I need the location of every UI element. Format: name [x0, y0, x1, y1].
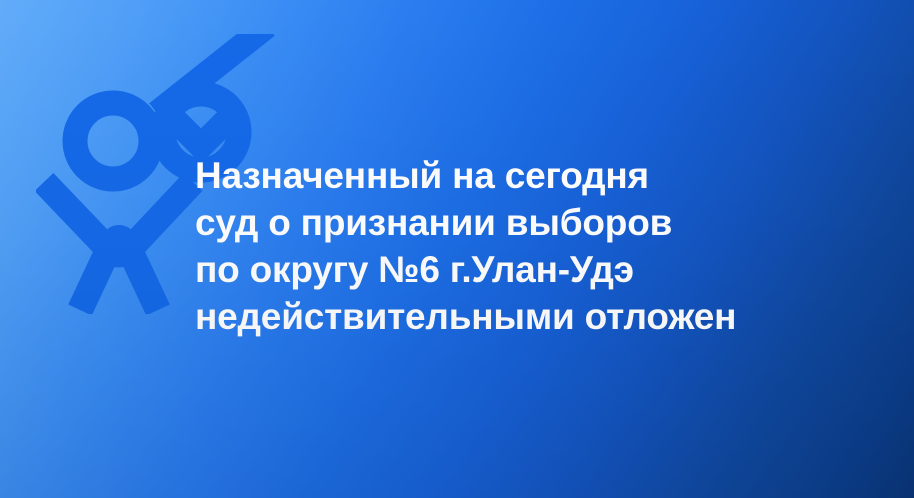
- headline: Назначенный на сегодня суд о признании в…: [195, 152, 895, 340]
- headline-line-3: по округу №6 г.Улан-Удэ: [195, 246, 895, 293]
- check-chevron-icon: [169, 114, 233, 146]
- headline-line-4: недействительными отложен: [195, 293, 895, 340]
- news-card: Назначенный на сегодня суд о признании в…: [0, 0, 914, 498]
- left-ring-icon: [75, 103, 151, 179]
- headline-line-2: суд о признании выборов: [195, 199, 895, 246]
- headline-line-1: Назначенный на сегодня: [195, 152, 895, 199]
